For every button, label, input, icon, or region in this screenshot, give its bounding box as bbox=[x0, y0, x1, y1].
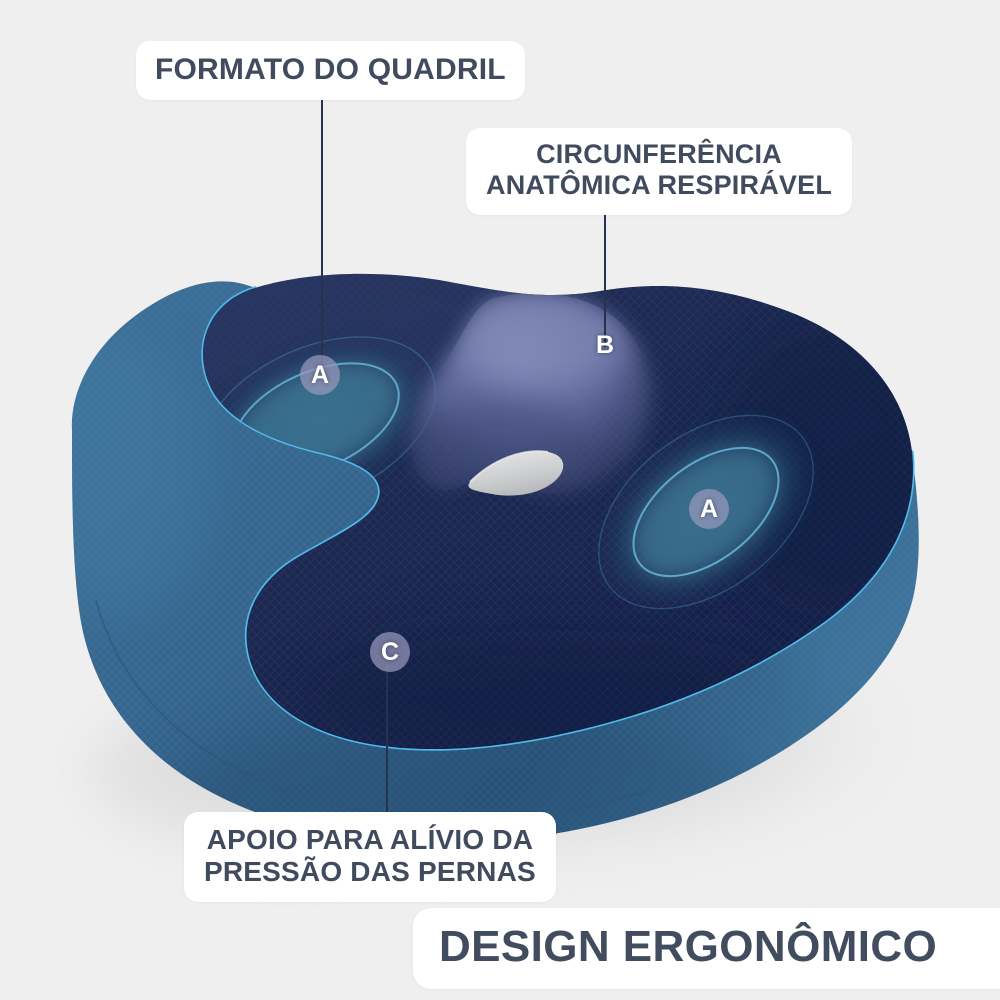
marker-badge-b[interactable]: B bbox=[585, 325, 625, 365]
banner-design-ergonomic: DESIGN ERGONÔMICO bbox=[413, 908, 1000, 989]
marker-badge-c[interactable]: C bbox=[370, 632, 410, 672]
leader-line-hip-shape bbox=[321, 100, 323, 370]
infographic-canvas: A B A C FORMATO DO QUADRIL CIRCUNFERÊNCI… bbox=[0, 0, 1000, 1000]
callout-label-hip-shape: FORMATO DO QUADRIL bbox=[136, 41, 525, 100]
callout-label-leg-support: APOIO PARA ALÍVIO DA PRESSÃO DAS PERNAS bbox=[184, 812, 556, 902]
marker-badge-a-right[interactable]: A bbox=[689, 489, 729, 529]
marker-badge-a-left[interactable]: A bbox=[300, 355, 340, 395]
leader-line-leg-support bbox=[386, 664, 388, 816]
callout-label-circumference: CIRCUNFERÊNCIA ANATÔMICA RESPIRÁVEL bbox=[466, 128, 852, 215]
